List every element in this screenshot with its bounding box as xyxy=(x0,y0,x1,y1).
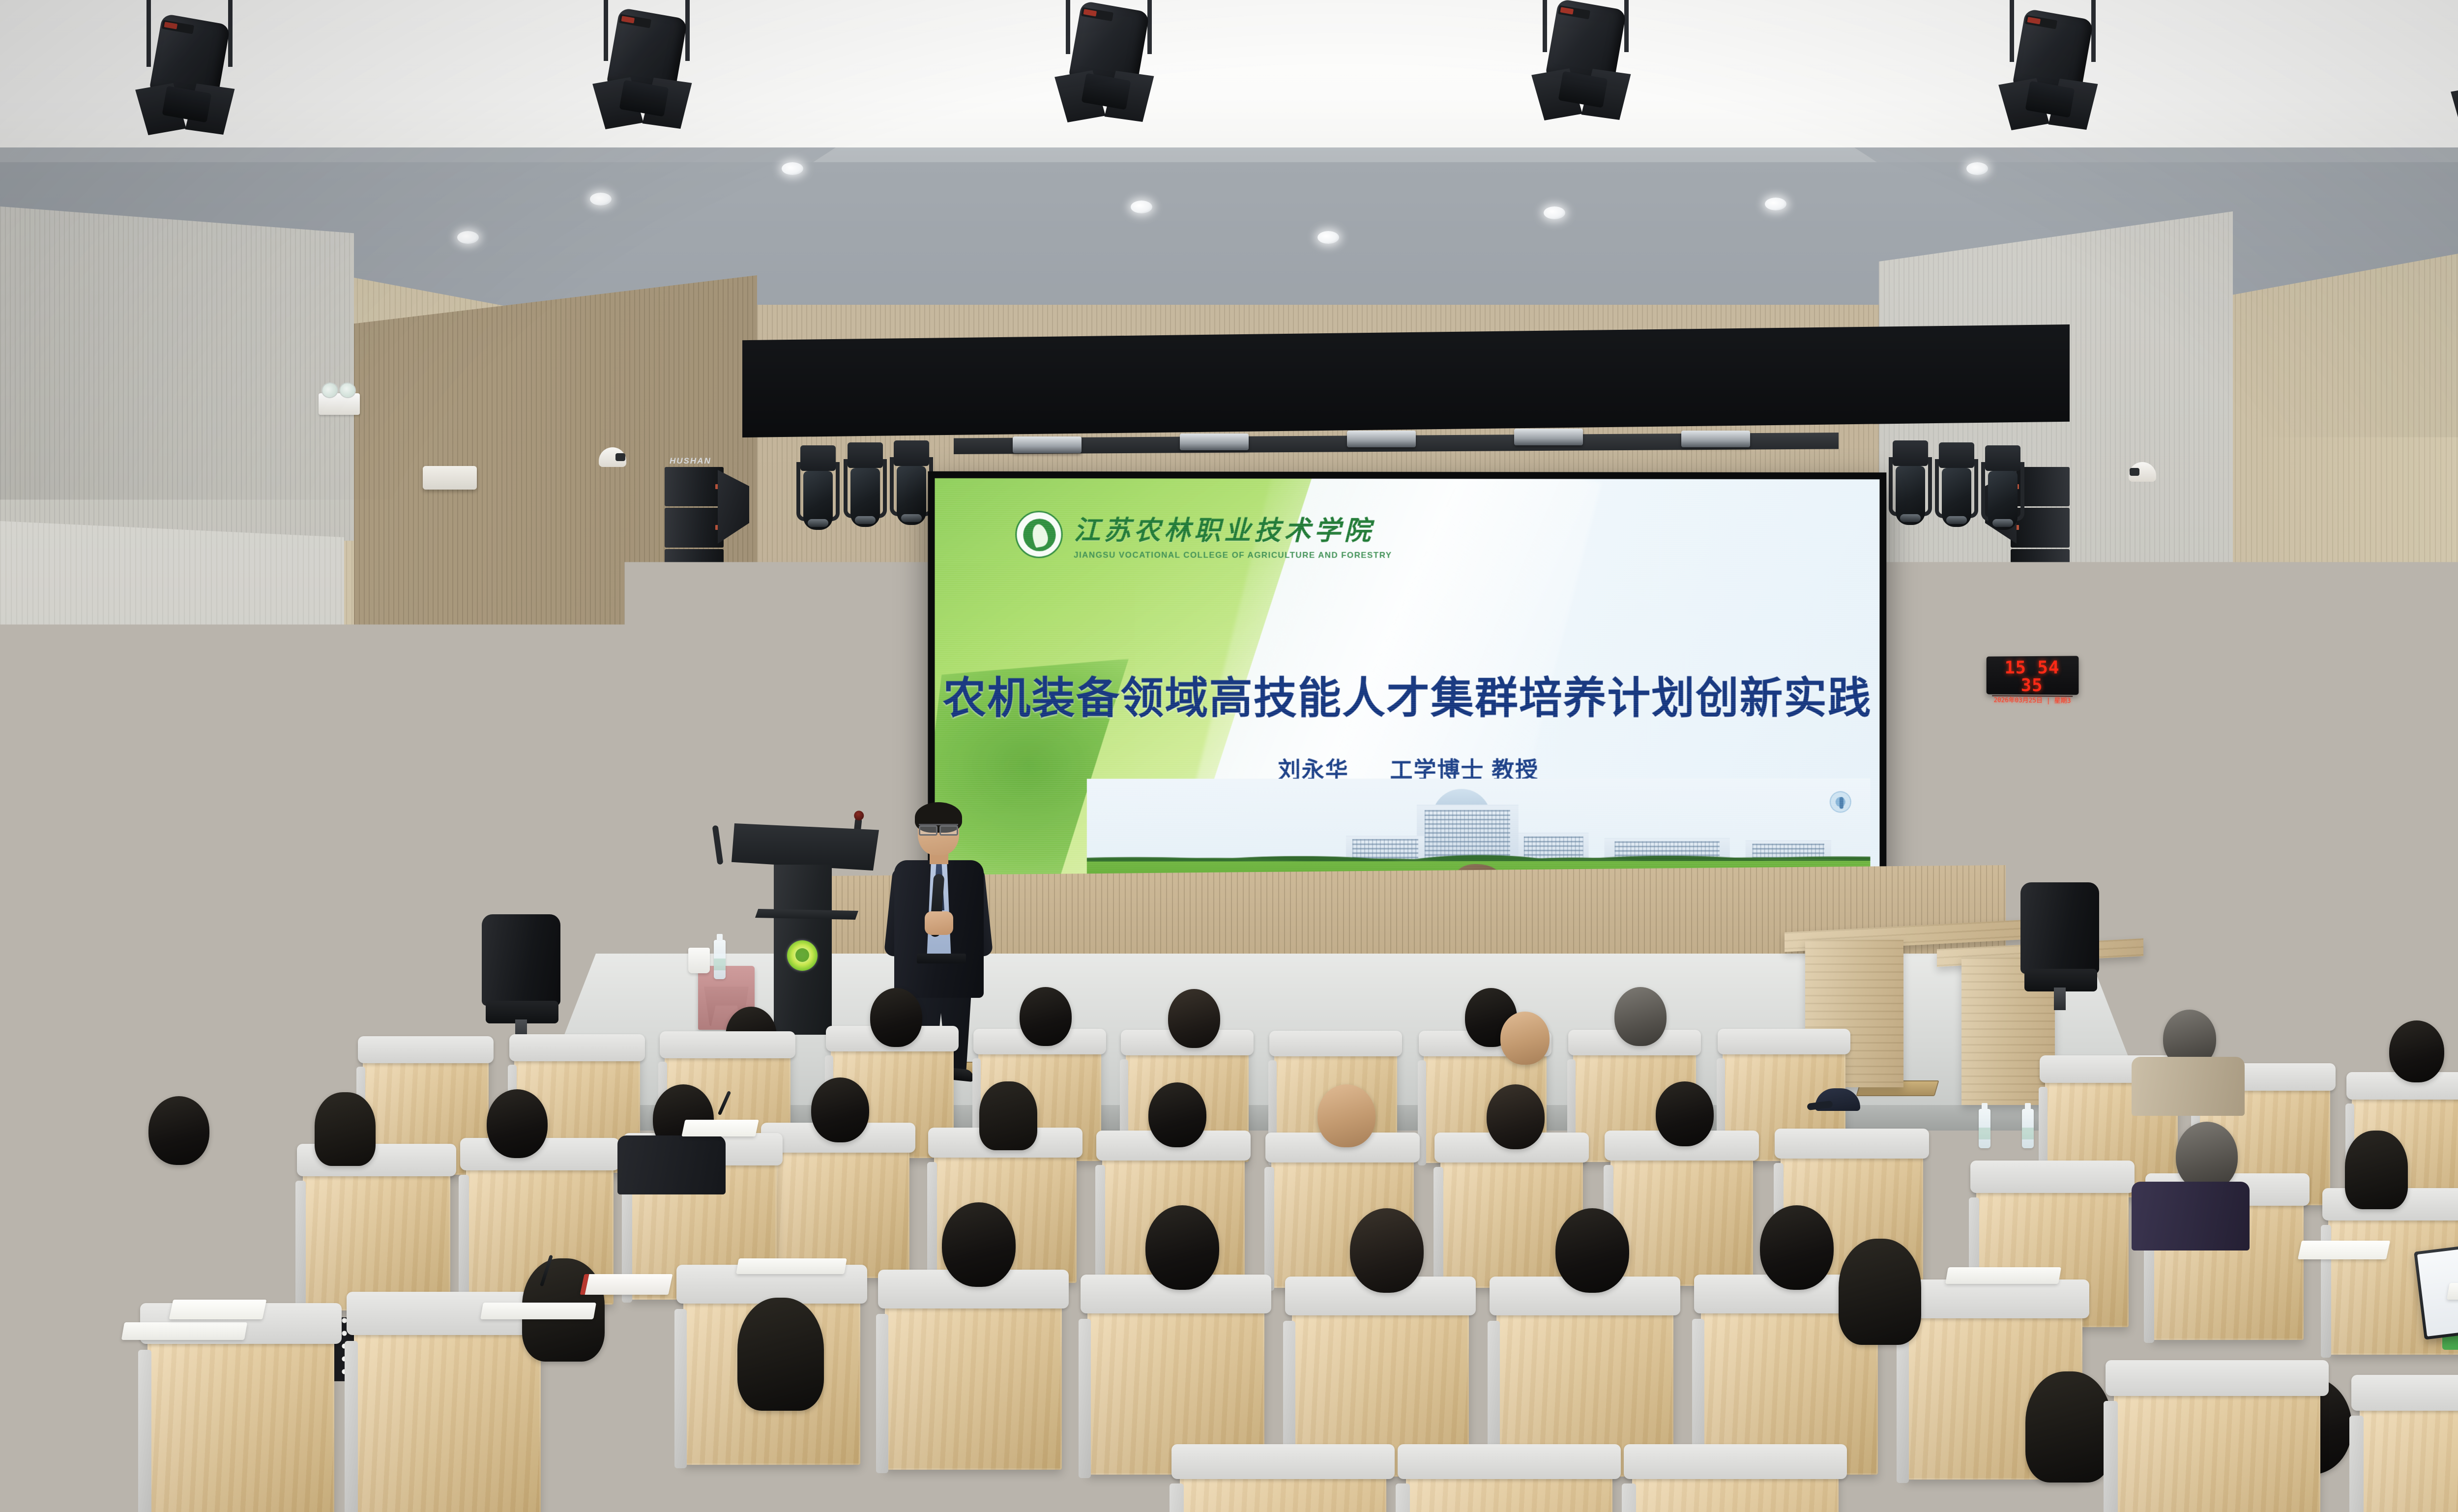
stage-spotlight xyxy=(2448,0,2458,143)
recessed-downlight xyxy=(1765,198,1786,210)
notebook[interactable] xyxy=(681,1120,759,1136)
handbag[interactable] xyxy=(20,1327,93,1381)
audience-member xyxy=(1839,1239,1921,1345)
institution-name-en: JIANGSU VOCATIONAL COLLEGE OF AGRICULTUR… xyxy=(1074,550,1392,560)
audience-member xyxy=(737,1298,824,1411)
left-wall-lower-panel xyxy=(0,521,344,1062)
audience-member-torso xyxy=(2132,1057,2245,1116)
stage-spotlight xyxy=(1052,0,1165,128)
executive-chair[interactable] xyxy=(482,914,560,1042)
fire-safety-sign xyxy=(2095,855,2108,872)
auditorium-seat[interactable] xyxy=(1406,1465,1612,1512)
audience-member xyxy=(148,1096,209,1165)
wall-speaker xyxy=(724,627,773,686)
light-barndoor xyxy=(2451,85,2458,137)
audience-member-torso xyxy=(2132,1182,2250,1250)
line-array-module xyxy=(2011,549,2070,588)
audience-member xyxy=(1145,1205,1219,1290)
toolbar-icon xyxy=(392,1475,398,1481)
emergency-exit-sign xyxy=(2319,715,2365,738)
seat-writing-tablet[interactable] xyxy=(121,1322,247,1340)
stage-spotlight xyxy=(1996,0,2109,136)
audience-member-torso xyxy=(617,1135,726,1194)
auditorium-seat[interactable] xyxy=(2114,1381,2320,1512)
water-bottle xyxy=(714,940,726,979)
stage-spotlight xyxy=(133,0,246,141)
recessed-downlight xyxy=(1317,231,1339,244)
podium-shelf xyxy=(755,909,858,920)
logo-wordmark: 江苏农林职业技术学院 JIANGSU VOCATIONAL COLLEGE OF… xyxy=(1074,508,1392,560)
laptop[interactable] xyxy=(315,1461,718,1512)
auditorium-scene: HUSHAN xyxy=(0,0,2458,1512)
speaker-brand-label: HUSHAN xyxy=(670,456,711,466)
light-head xyxy=(1988,471,2018,530)
moving-head-light xyxy=(1934,442,1979,536)
audience-member xyxy=(1500,1012,1550,1065)
truss-light-fixture xyxy=(1347,431,1416,447)
recessed-downlight xyxy=(590,193,612,205)
stage-spotlight xyxy=(1529,0,1642,126)
emergency-light xyxy=(319,393,360,415)
moving-head-light xyxy=(843,442,888,536)
moving-head-light xyxy=(1980,445,2025,539)
audience-member xyxy=(1148,1082,1206,1147)
auditorium-seat[interactable] xyxy=(141,1170,288,1317)
slide-surface: 江苏农林职业技术学院 JIANGSU VOCATIONAL COLLEGE OF… xyxy=(935,478,1880,908)
audience-member xyxy=(1555,1208,1629,1293)
truss-light-fixture xyxy=(1013,436,1082,453)
digital-wall-clock: 15 54 35 2026年03月25日 | 星期3 xyxy=(1987,656,2079,695)
moving-head-light xyxy=(795,445,841,539)
ceiling-projector xyxy=(423,466,477,490)
recessed-downlight xyxy=(1966,162,1988,175)
audience-member xyxy=(1020,987,1072,1046)
water-bottle xyxy=(2022,1109,2034,1148)
auditorium-seat[interactable] xyxy=(2360,1396,2458,1512)
line-array-module xyxy=(2011,590,2070,629)
presenter-belt xyxy=(917,954,966,963)
audience-member xyxy=(1317,1084,1375,1147)
auditorium-seat[interactable] xyxy=(0,1180,128,1327)
presenter-glasses xyxy=(919,824,958,831)
seat-writing-tablet[interactable] xyxy=(480,1303,596,1319)
recessed-downlight xyxy=(1544,206,1565,219)
line-array-module xyxy=(665,549,724,588)
audience-member xyxy=(2345,1131,2408,1209)
auditorium-seat[interactable] xyxy=(303,1163,450,1310)
audience-member xyxy=(979,1081,1037,1150)
clock-date: 2026年03月25日 | 星期3 xyxy=(1990,697,2075,705)
water-bottle xyxy=(1979,1109,1990,1148)
audience-member xyxy=(2176,1122,2238,1191)
audience-member xyxy=(315,1092,376,1166)
audience-member xyxy=(1656,1081,1714,1146)
chair-post xyxy=(2054,988,2066,1010)
auditorium-seat[interactable] xyxy=(1610,1148,1753,1286)
truss-light-fixture xyxy=(1681,431,1750,447)
clock-time: 15 54 35 xyxy=(1990,659,2075,695)
podium-emblem-icon xyxy=(787,940,818,971)
toolbar-icon xyxy=(351,1475,356,1481)
toolbar-icon xyxy=(330,1475,336,1481)
paper-cup xyxy=(688,948,710,973)
auditorium-seat[interactable] xyxy=(1180,1465,1386,1512)
laptop-toolbar xyxy=(318,1471,714,1484)
light-head xyxy=(897,466,926,525)
toolbar-icon xyxy=(433,1475,439,1481)
audience-member xyxy=(2389,1020,2444,1082)
left-wall-upper-panel xyxy=(0,206,354,541)
led-presentation-screen[interactable]: 江苏农林职业技术学院 JIANGSU VOCATIONAL COLLEGE OF… xyxy=(928,471,1886,915)
fire-safety-sign xyxy=(687,764,700,781)
stage-spotlight xyxy=(590,0,703,135)
institution-name-cn: 江苏农林职业技术学院 xyxy=(1074,508,1392,548)
executive-chair[interactable] xyxy=(2020,882,2099,1010)
moving-head-light xyxy=(889,440,934,534)
audience-member xyxy=(2025,1371,2112,1483)
podium-desktop xyxy=(732,823,879,871)
exit-sign-graphic xyxy=(616,712,653,727)
chair-back xyxy=(482,914,560,1006)
door-handle[interactable] xyxy=(2345,1027,2370,1032)
audience-member xyxy=(487,1089,548,1158)
truss-light-fixture xyxy=(1180,434,1249,450)
exit-sign-graphic xyxy=(2324,719,2360,734)
auditorium-seat[interactable] xyxy=(1632,1465,1839,1512)
seat-writing-tablet[interactable] xyxy=(1945,1267,2061,1284)
notebook[interactable] xyxy=(169,1300,267,1319)
audience-member xyxy=(1487,1084,1545,1149)
logo-emblem-icon xyxy=(1016,511,1063,558)
running-man-icon xyxy=(636,714,644,724)
chair-back xyxy=(2163,924,2242,1016)
institution-logo: 江苏农林职业技术学院 JIANGSU VOCATIONAL COLLEGE OF… xyxy=(1016,508,1392,560)
line-array-module xyxy=(665,590,724,629)
audience-member xyxy=(1350,1208,1424,1293)
line-array-module xyxy=(665,467,724,506)
auditorium-seat[interactable] xyxy=(885,1293,1062,1470)
chair-back xyxy=(2020,882,2099,974)
line-array-loudspeaker: HUSHAN xyxy=(665,467,724,629)
recessed-downlight xyxy=(1131,201,1152,213)
light-head xyxy=(1896,466,1925,525)
laptop-screen xyxy=(318,1464,714,1512)
running-man-icon xyxy=(2333,722,2341,731)
slide-title: 农机装备领域高技能人才集群培养计划创新实践 xyxy=(935,663,1880,726)
toolbar-icon xyxy=(412,1475,418,1481)
audience-member xyxy=(870,988,922,1047)
exit-door-icon xyxy=(2342,721,2351,732)
seat-writing-tablet[interactable] xyxy=(736,1258,847,1274)
line-array-module xyxy=(665,508,724,547)
toolbar-icon xyxy=(474,1475,480,1481)
auditorium-seat[interactable] xyxy=(767,1140,909,1278)
emergency-exit-sign xyxy=(612,708,657,730)
light-head xyxy=(803,471,833,530)
fire-safety-sign xyxy=(2079,855,2092,872)
audience-member xyxy=(1760,1205,1834,1290)
recessed-downlight xyxy=(457,231,479,244)
notebook[interactable] xyxy=(2298,1241,2390,1259)
presenter-hands xyxy=(925,911,953,935)
audience-member xyxy=(1614,987,1667,1046)
toolbar-icon xyxy=(371,1475,377,1481)
notebook[interactable] xyxy=(580,1274,673,1295)
exit-door-icon xyxy=(625,714,634,725)
audience-member xyxy=(811,1077,869,1142)
truss-light-fixture xyxy=(1514,429,1583,445)
campus-treeline xyxy=(1086,810,1870,870)
audience-member xyxy=(1168,989,1220,1048)
recessed-downlight xyxy=(782,162,803,175)
light-head xyxy=(850,468,880,527)
audience-member xyxy=(942,1202,1016,1287)
light-head xyxy=(1942,468,1971,527)
auditorium-seat[interactable] xyxy=(147,1327,334,1512)
screen-header-panel xyxy=(742,324,2070,437)
moving-head-light xyxy=(1888,440,1933,534)
toolbar-icon xyxy=(454,1475,460,1481)
side-table-pedestal xyxy=(374,929,452,1052)
